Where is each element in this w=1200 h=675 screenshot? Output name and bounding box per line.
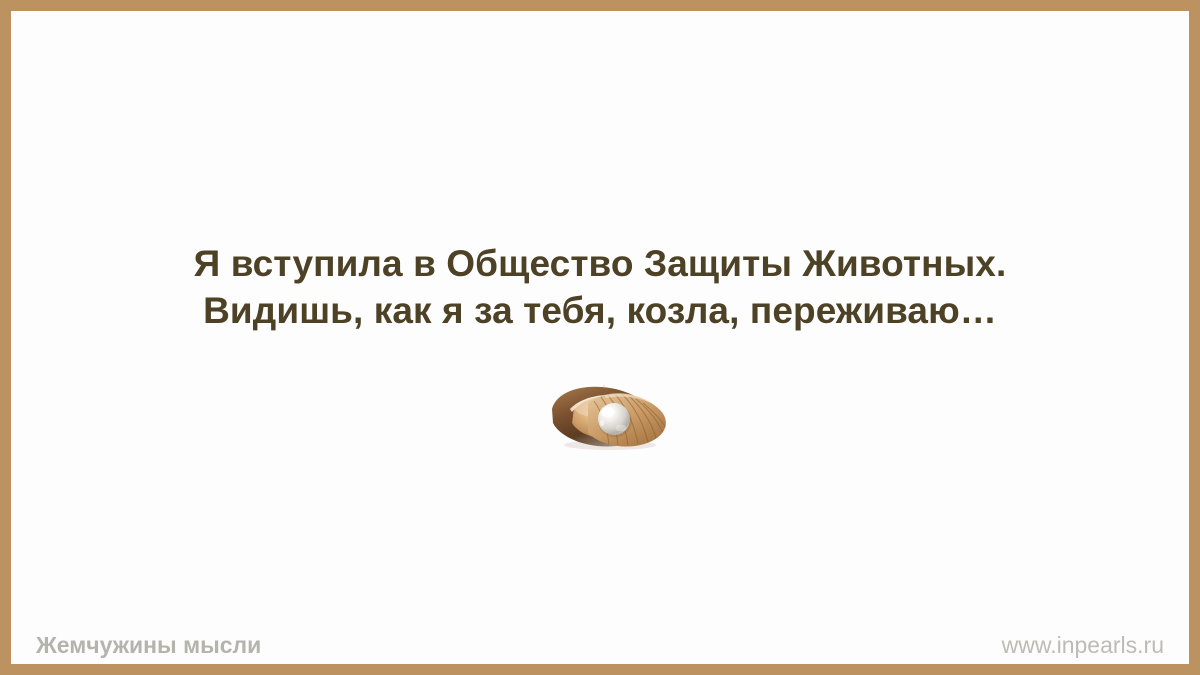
quote-line-2: Видишь, как я за тебя, козла, переживаю…: [51, 287, 1149, 334]
quote-line-1: Я вступила в Общество Защиты Животных.: [51, 240, 1149, 287]
footer-brand-label: Жемчужины мысли: [36, 631, 261, 659]
shell-with-pearl-image: [544, 381, 672, 451]
quote-text-block: Я вступила в Общество Защиты Животных. В…: [11, 240, 1189, 334]
footer-site-link[interactable]: www.inpearls.ru: [1002, 631, 1164, 659]
quote-card: Я вступила в Общество Защиты Животных. В…: [0, 0, 1200, 675]
